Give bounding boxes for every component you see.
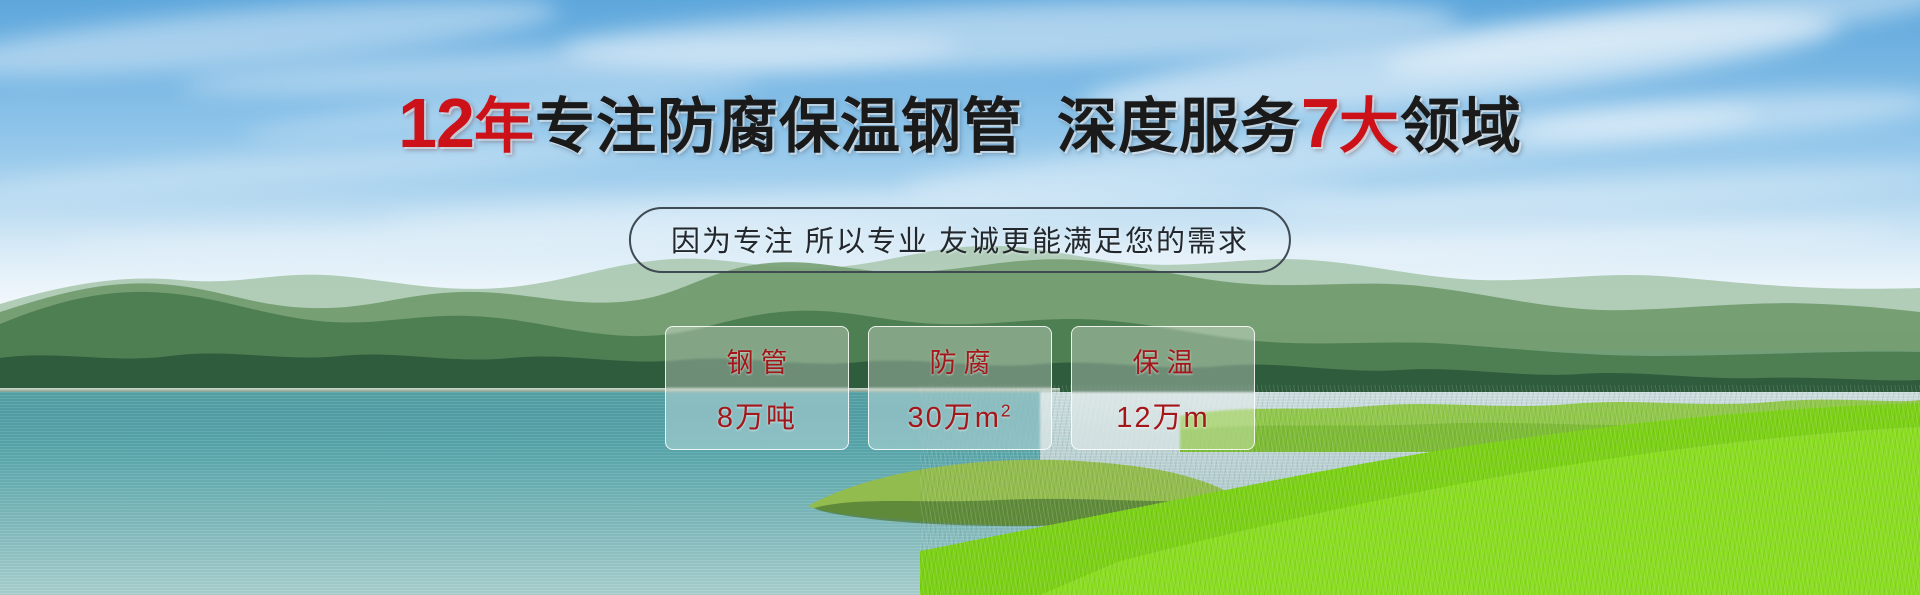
stat-card-value-superscript: 2	[1001, 400, 1013, 420]
page-title: 12年专注防腐保温钢管深度服务7大领域	[0, 88, 1920, 158]
headline-fields-number: 7	[1301, 84, 1339, 162]
stat-card-title: 保温	[1126, 341, 1201, 380]
headline-fields-unit: 大	[1339, 93, 1400, 160]
stat-card-value-text: 12万m	[1116, 402, 1209, 434]
stat-card-value: 12万m	[1116, 394, 1209, 436]
headline-fields-text: 领域	[1400, 93, 1522, 160]
stat-card-title: 防腐	[923, 341, 998, 380]
stat-card-group: 钢管 8万吨 防腐 30万m2 保温 12万m	[665, 326, 1255, 450]
hero-banner: 12年专注防腐保温钢管深度服务7大领域 因为专注 所以专业 友诚更能满足您的需求…	[0, 0, 1920, 595]
headline-years-number: 12	[398, 84, 474, 162]
headline-years-unit: 年	[474, 93, 535, 160]
subtitle-pill: 因为专注 所以专业 友诚更能满足您的需求	[629, 207, 1291, 273]
headline-service-text: 深度服务	[1057, 93, 1301, 160]
stat-card-value-text: 30万m	[907, 402, 1000, 434]
stat-card-value: 30万m2	[907, 394, 1012, 436]
stat-card-steel-pipe[interactable]: 钢管 8万吨	[665, 326, 849, 450]
stat-card-value: 8万吨	[717, 394, 797, 436]
stat-card-insulation[interactable]: 保温 12万m	[1071, 326, 1255, 450]
stat-card-anticorrosion[interactable]: 防腐 30万m2	[868, 326, 1052, 450]
stat-card-title: 钢管	[720, 341, 795, 380]
headline-focus-text: 专注防腐保温钢管	[535, 93, 1023, 160]
stat-card-value-text: 8万吨	[717, 402, 797, 434]
